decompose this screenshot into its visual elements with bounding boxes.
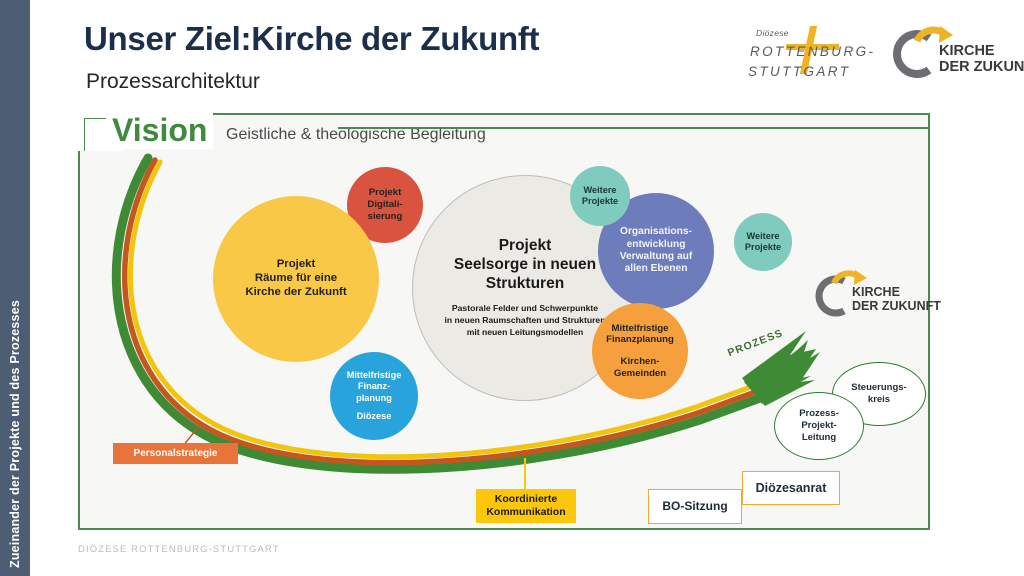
footer-text: DIÖZESE ROTTENBURG-STUTTGART — [78, 544, 280, 555]
raeume-line3: Kirche der Zukunft — [245, 286, 346, 300]
org-line4: allen Ebenen — [625, 263, 688, 275]
kdz-inline-line1: KIRCHE — [852, 285, 900, 299]
tag-bo-sitzung[interactable]: BO-Sitzung — [648, 489, 742, 524]
mfk-line3: Kirchen- — [621, 356, 660, 368]
mfd-line2: Finanz- — [358, 381, 390, 392]
tag-dioezesanrat[interactable]: Diözesanrat — [742, 471, 840, 505]
kirche-der-zukunft-inline-logo: KIRCHE DER ZUKUNFT — [816, 270, 924, 322]
mfd-line1: Mittelfristige — [347, 370, 402, 381]
mfk-line4: Gemeinden — [614, 368, 666, 380]
inline-logo-arc-icon — [819, 279, 844, 313]
mfd-line3: planung — [356, 393, 392, 404]
kdz-inline-line2: DER ZUKUNFT — [852, 299, 941, 313]
tag-personalstrategie[interactable]: Personalstrategie — [113, 443, 238, 464]
ppl-line1: Prozess- — [799, 408, 839, 420]
koordinierte-line1: Koordinierte — [495, 493, 557, 506]
ppl-line3: Leitung — [802, 432, 836, 444]
seelsorge-sub-line2: in neuen Raumschaften und Strukturen — [445, 315, 606, 327]
circle-mittelfristige-dioezese[interactable]: Mittelfristige Finanz- planung Diözese — [330, 352, 418, 440]
circle-mittelfristige-kirchengemeinden[interactable]: Mittelfristige Finanzplanung Kirchen- Ge… — [592, 303, 688, 399]
digital-line2: Digitali- — [367, 199, 402, 211]
circle-weitere-projekte-1[interactable]: Weitere Projekte — [570, 166, 630, 226]
seelsorge-title-line3: Strukturen — [454, 275, 596, 294]
inline-logo-arrowhead-icon — [854, 270, 867, 285]
tag-koordinierte-kommunikation[interactable]: Koordinierte Kommunikation — [476, 489, 576, 523]
ppl-line2: Projekt- — [801, 420, 836, 432]
seelsorge-title-line2: Seelsorge in neuen — [454, 256, 596, 275]
digital-line3: sierung — [368, 211, 403, 223]
weitere1-line2: Projekte — [582, 196, 618, 207]
org-line3: Verwaltung auf — [620, 251, 692, 263]
dioezesanrat-label: Diözesanrat — [756, 481, 827, 496]
seelsorge-sub-line3: mit neuen Leitungsmodellen — [445, 327, 606, 339]
mfk-line2: Finanzplanung — [606, 334, 674, 346]
digital-line1: Projekt — [369, 187, 402, 199]
circle-projekt-raeume[interactable]: Projekt Räume für eine Kirche der Zukunf… — [213, 196, 379, 362]
mfk-line1: Mittelfristige — [611, 323, 668, 335]
mfd-line4: Diözese — [357, 411, 392, 422]
weitere1-line1: Weitere — [583, 185, 616, 196]
circle-weitere-projekte-2[interactable]: Weitere Projekte — [734, 213, 792, 271]
steuerungskreis-line1: Steuerungs- — [851, 382, 906, 394]
bo-sitzung-label: BO-Sitzung — [662, 499, 727, 513]
seelsorge-title-line1: Projekt — [454, 237, 596, 256]
seelsorge-sub-line1: Pastorale Felder und Schwerpunkte — [445, 303, 606, 315]
raeume-line1: Projekt — [277, 258, 316, 272]
weitere2-line2: Projekte — [745, 242, 781, 253]
oval-prozess-projekt-leitung[interactable]: Prozess- Projekt- Leitung — [774, 392, 864, 460]
weitere2-line1: Weitere — [746, 231, 779, 242]
org-line1: Organisations- — [620, 226, 692, 238]
raeume-line2: Räume für eine — [255, 272, 337, 286]
org-line2: entwicklung — [627, 239, 686, 251]
steuerungskreis-line2: kreis — [868, 394, 890, 406]
personalstrategie-label: Personalstrategie — [134, 448, 218, 460]
koordinierte-line2: Kommunikation — [486, 506, 565, 519]
